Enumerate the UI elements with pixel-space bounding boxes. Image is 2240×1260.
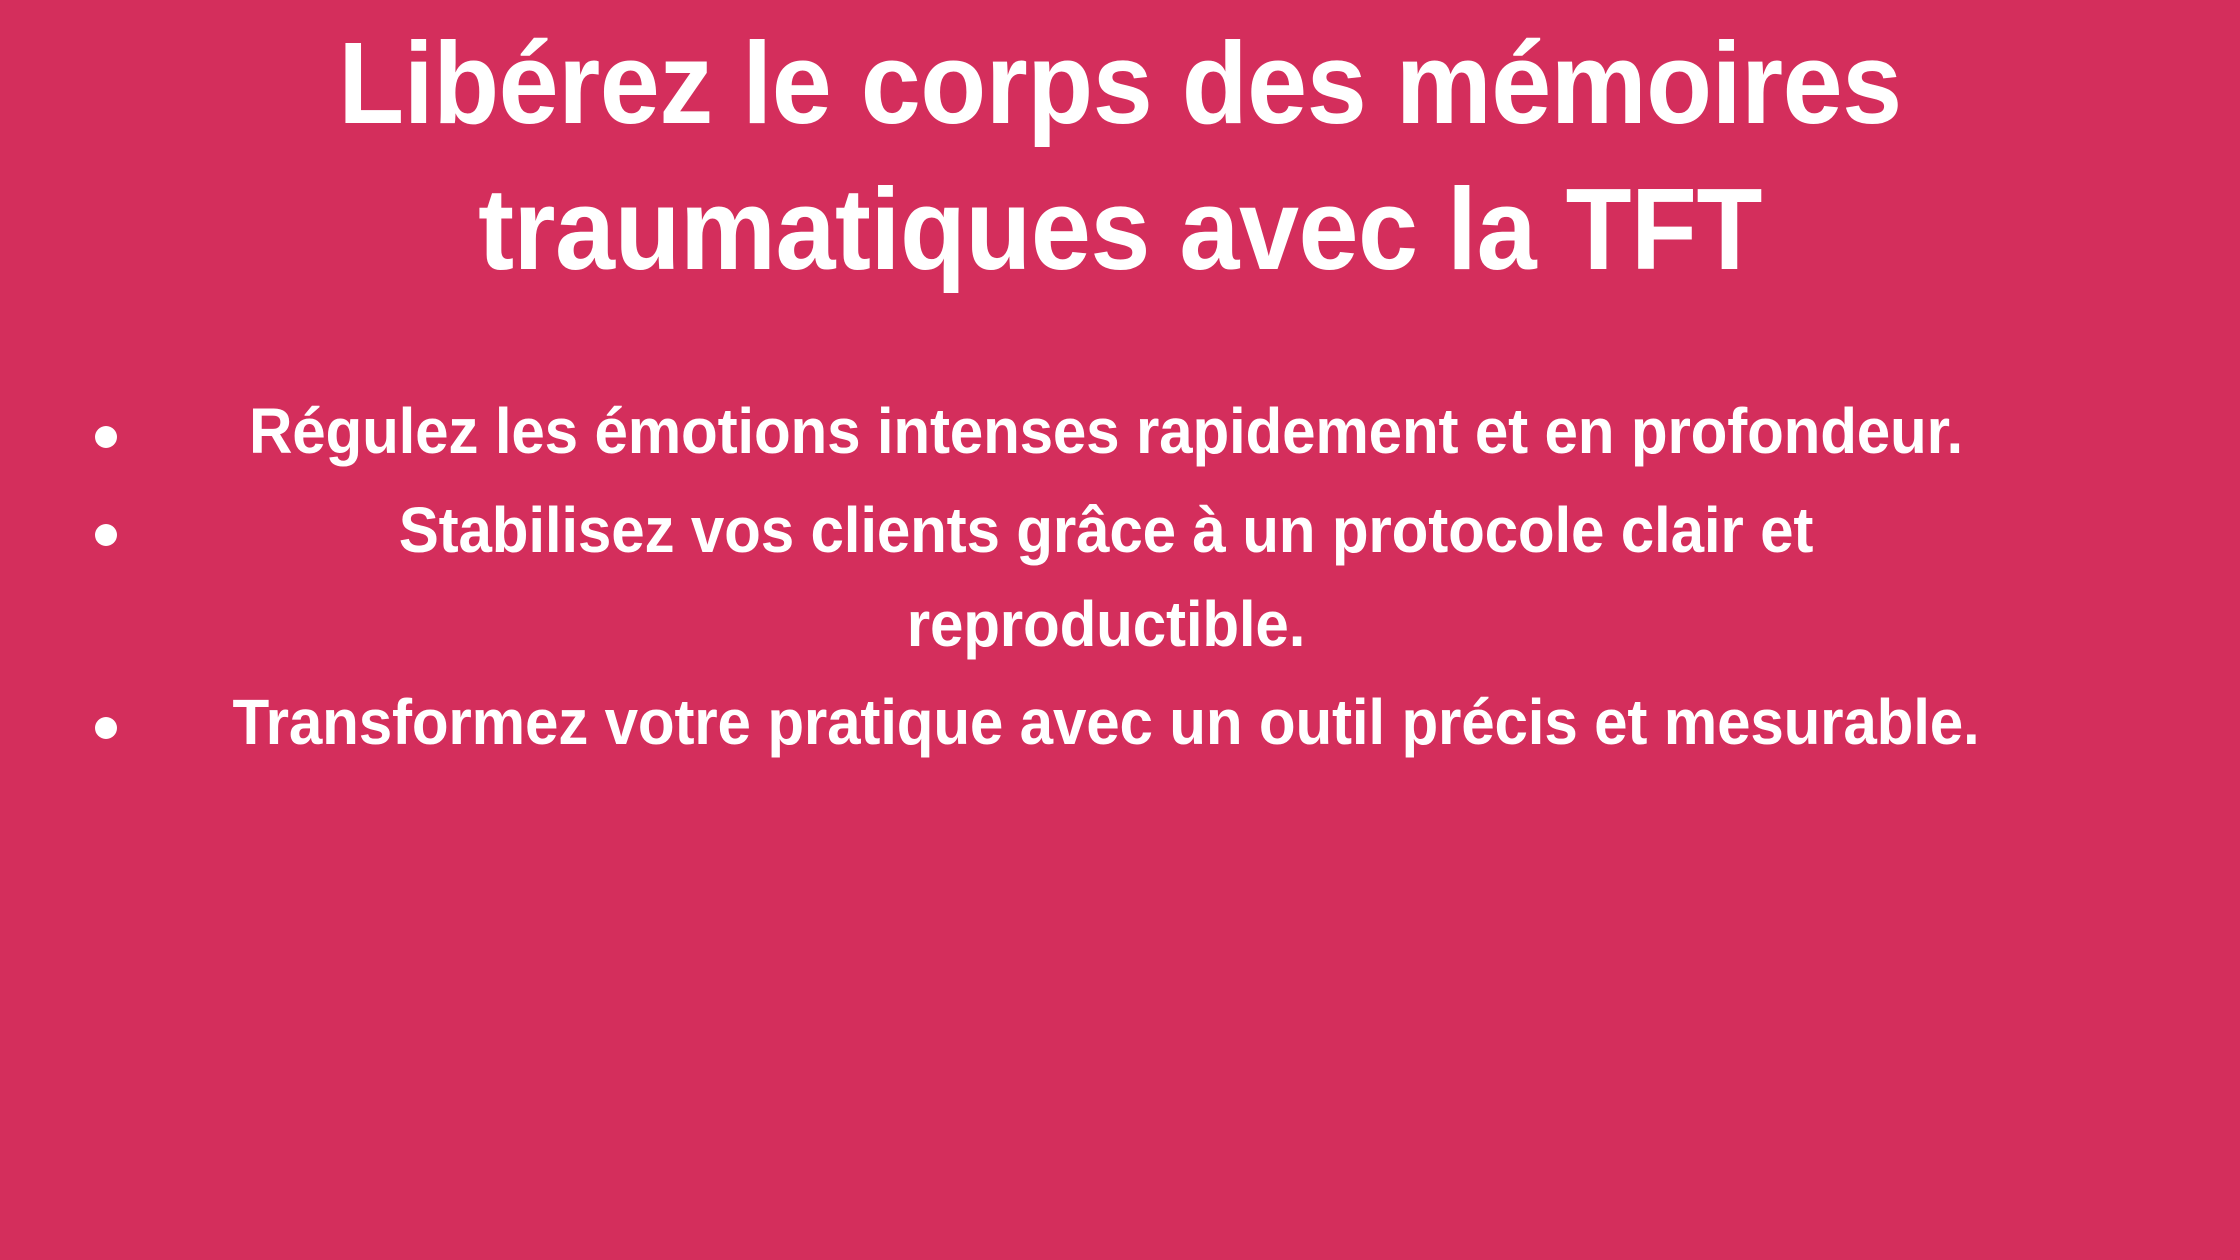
benefits-list: Régulez les émotions intenses rapidement… [60, 384, 2060, 773]
bullet-point-icon [60, 384, 152, 479]
page-title: Libérez le corps des mémoires traumatiqu… [130, 0, 2111, 302]
list-item: Régulez les émotions intenses rapidement… [60, 384, 2060, 479]
list-item-label: Régulez les émotions intenses rapidement… [209, 384, 2003, 478]
list-item-label: Transformez votre pratique avec un outil… [209, 675, 2003, 769]
list-item: Transformez votre pratique avec un outil… [60, 675, 2060, 770]
promo-slide: Libérez le corps des mémoires traumatiqu… [0, 0, 2240, 1260]
bullet-point-icon [60, 483, 152, 578]
list-item-label: Stabilisez vos clients grâce à un protoc… [209, 483, 2003, 671]
bullet-point-icon [60, 675, 152, 770]
list-item: Stabilisez vos clients grâce à un protoc… [60, 483, 2060, 671]
